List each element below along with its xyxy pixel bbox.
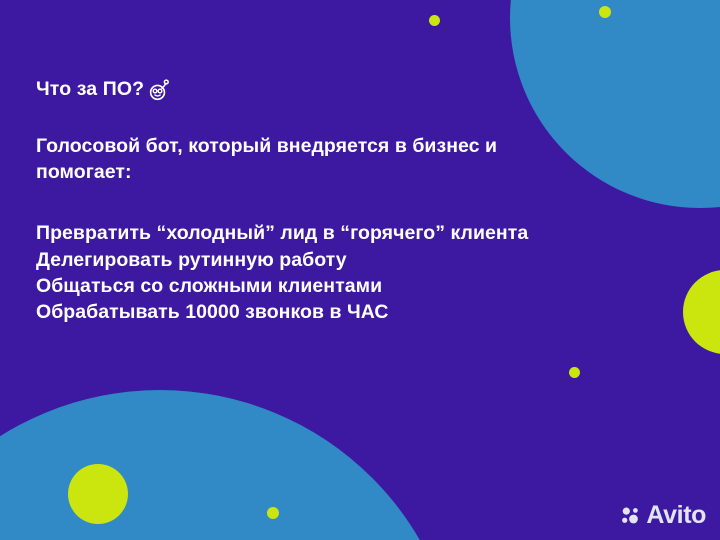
avito-dots-logo <box>620 505 641 526</box>
list-item: Превратить “холодный” лид в “горячего” к… <box>36 220 596 246</box>
avito-watermark: Avito <box>620 503 706 528</box>
list-item: Общаться со сложными клиентами <box>36 273 596 299</box>
yellow-dot-mid-right <box>569 367 580 378</box>
yellow-dot-top-right <box>599 6 611 18</box>
robot-face-emoji <box>147 78 170 101</box>
yellow-circle-right <box>683 270 720 354</box>
blue-circle-bottom-left <box>0 390 460 540</box>
yellow-circle-bottom-left <box>68 464 128 524</box>
slide-lead-text: Голосовой бот, который внедряется в бизн… <box>36 134 596 186</box>
heading-row: Что за ПО? <box>36 78 596 101</box>
slide-content: Что за ПО? Голосовой бот, который внедря… <box>36 78 596 325</box>
list-item: Обрабатывать 10000 звонков в ЧАС <box>36 299 596 325</box>
avito-brand-text: Avito <box>646 503 706 528</box>
list-item: Делегировать рутинную работу <box>36 247 596 273</box>
benefits-list: Превратить “холодный” лид в “горячего” к… <box>36 220 596 325</box>
yellow-dot-bottom-left <box>267 507 279 519</box>
slide-heading: Что за ПО? <box>36 78 144 101</box>
yellow-dot-top-center <box>429 15 440 26</box>
slide-canvas: Что за ПО? Голосовой бот, который внедря… <box>0 0 720 540</box>
